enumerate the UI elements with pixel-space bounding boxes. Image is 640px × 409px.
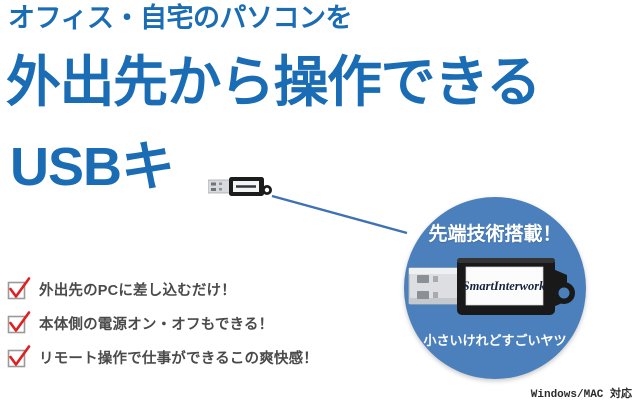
list-item: 外出先のPCに差し込むだけ！ [6,272,318,306]
headline-line-2: 外出先から操作できる [6,54,540,112]
promo-banner: オフィス・自宅のパソコンを 外出先から操作できる USBキ 先端技術搭載！ [0,0,640,409]
checkbox-checked-icon [6,276,32,302]
usb-stick-icon [208,176,278,198]
headline-line-1: オフィス・自宅のパソコンを [8,4,352,34]
checkbox-checked-icon [6,344,32,370]
connector-line [260,185,420,245]
list-item: リモート操作で仕事ができるこの爽快感！ [6,340,318,374]
checkbox-checked-icon [6,310,32,336]
svg-text:SmartInterwork: SmartInterwork [463,279,546,293]
list-item-label: 本体側の電源オン・オフもできる！ [39,313,273,334]
headline-line-3: USBキ [10,139,174,196]
usb-product-image: SmartInterwork [407,255,583,321]
feature-circle-caption: 小さいけれどすごいヤツ [404,330,586,349]
feature-circle: 先端技術搭載！ SmartInterwork [404,197,586,379]
list-item-label: リモート操作で仕事ができるこの爽快感！ [39,347,318,368]
compatibility-note: Windows/MAC 対応 [531,385,632,401]
list-item: 本体側の電源オン・オフもできる！ [6,306,318,340]
feature-checklist: 外出先のPCに差し込むだけ！ 本体側の電源オン・オフもできる！ リモート操作で仕… [6,272,318,374]
feature-circle-title: 先端技術搭載！ [404,219,586,246]
list-item-label: 外出先のPCに差し込むだけ！ [39,279,236,300]
